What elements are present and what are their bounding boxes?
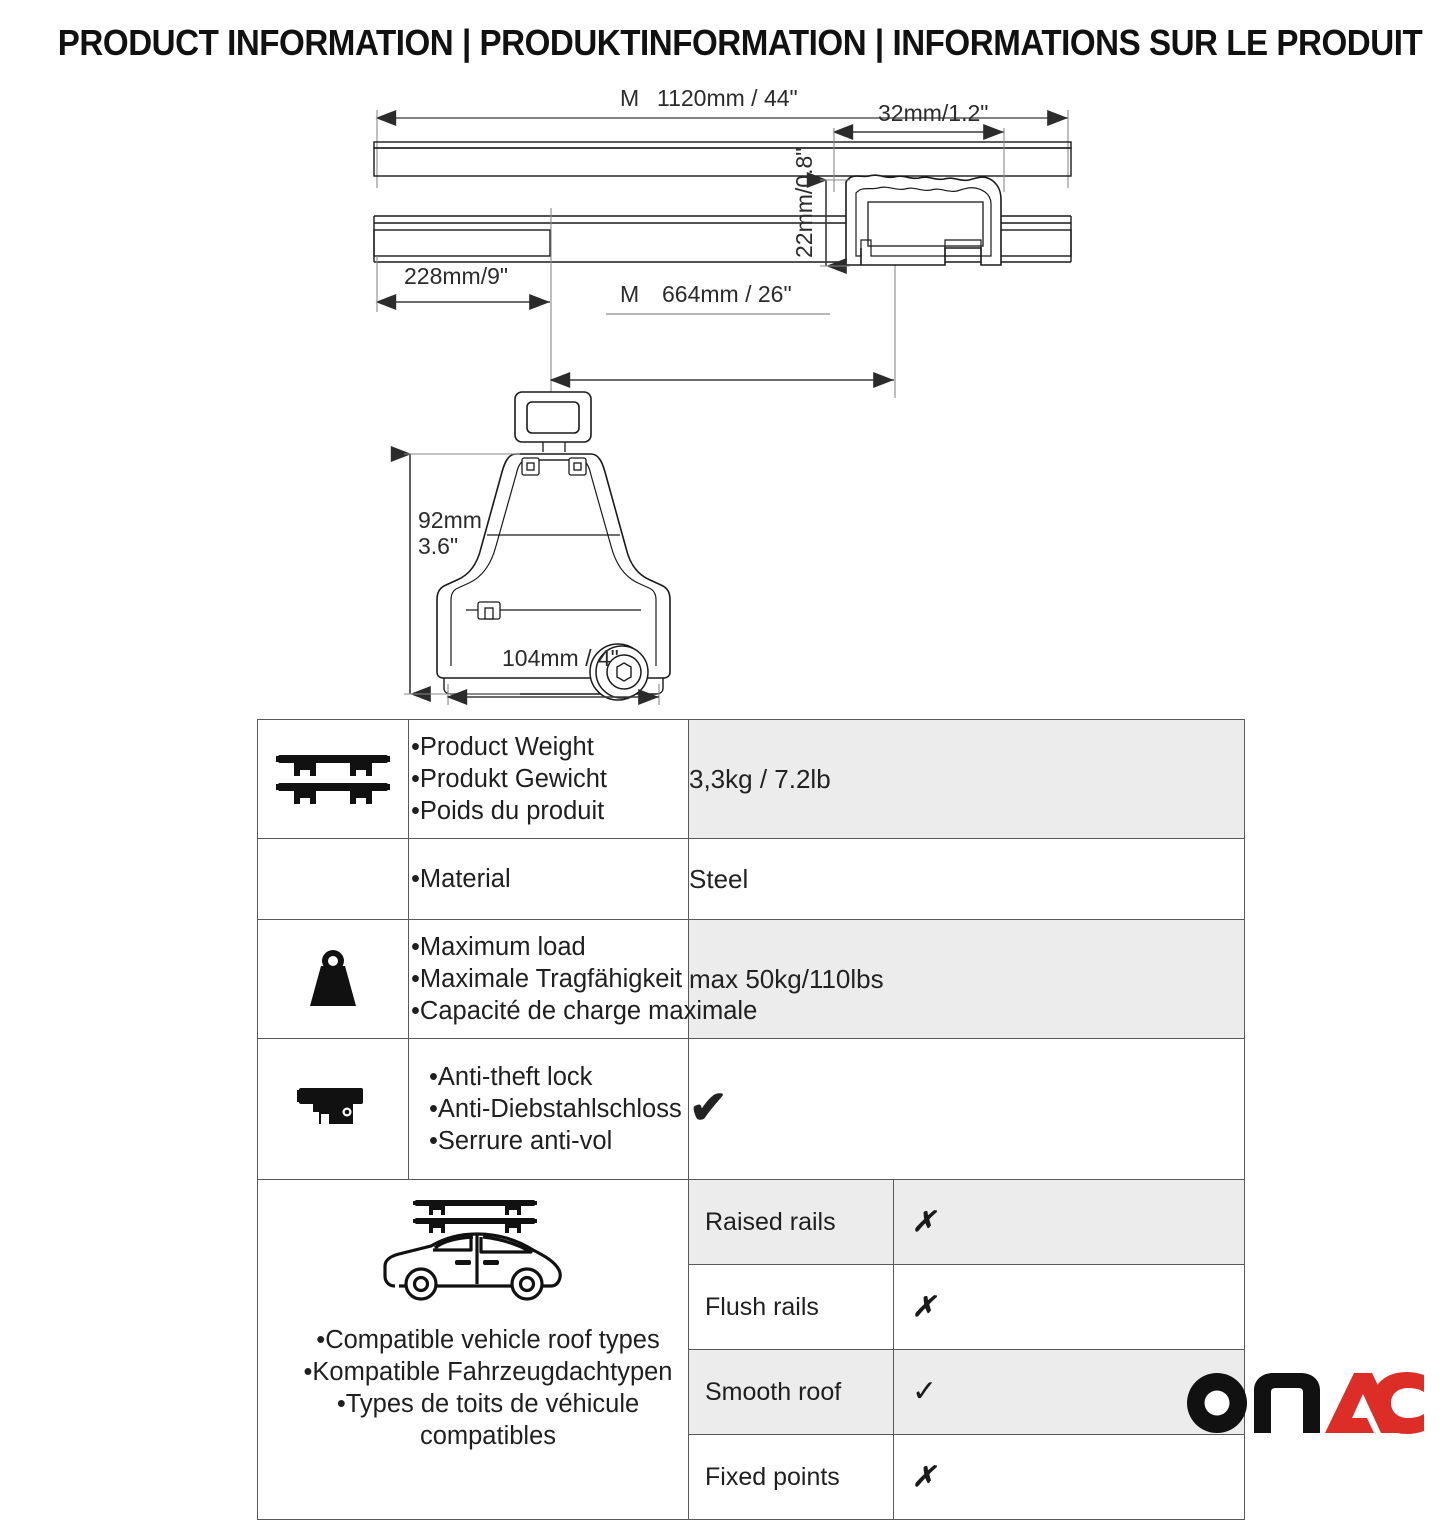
roof-type-name: Raised rails (689, 1180, 894, 1265)
roof-type-mark-cell: ✗ (894, 1435, 1245, 1520)
row-label-cell: •Maximum load •Maximale Tragfähigkeit •C… (409, 920, 689, 1039)
cross-icon: ✗ (912, 1293, 935, 1321)
roof-type-mark-cell: ✗ (894, 1180, 1245, 1265)
omac-logo (1186, 1372, 1424, 1434)
table-row: •Product Weight •Produkt Gewicht •Poids … (258, 720, 1245, 839)
bullet-list: •Product Weight •Produkt Gewicht •Poids … (409, 731, 688, 827)
check-icon: ✓ (912, 1377, 937, 1407)
profile-height-label: 22mm/0.8" (791, 148, 817, 258)
roof-type-row: Flush rails ✗ (689, 1265, 1244, 1350)
roof-type-row: Raised rails ✗ (689, 1180, 1244, 1265)
bar-length-value: 1120mm / 44" (657, 85, 798, 111)
bullet-list: •Maximum load •Maximale Tragfähigkeit •C… (409, 931, 688, 1027)
bullet-line: •Maximum load (409, 931, 688, 963)
table-row: •Maximum load •Maximale Tragfähigkeit •C… (258, 920, 1245, 1039)
page-title: PRODUCT INFORMATION | PRODUKTINFORMATION… (58, 22, 1387, 64)
bullet-line: •Anti-Diebstahlschloss (427, 1093, 688, 1125)
foot-width-text: 104mm / 4" (502, 645, 619, 671)
two-crossbars-icon (258, 720, 409, 839)
car-with-rack-icon (373, 1194, 573, 1306)
bullet-list: •Compatible vehicle roof types •Kompatib… (266, 1324, 680, 1453)
bullet-line: •Kompatible Fahrzeugdachtypen (294, 1356, 680, 1388)
bullet-line: •Product Weight (409, 731, 688, 763)
spread-prefix: M (620, 281, 639, 307)
roof-type-name: Smooth roof (689, 1350, 894, 1435)
anti-theft-lock-value: ✔ (689, 1039, 1245, 1180)
row-label-cell: •Product Weight •Produkt Gewicht •Poids … (409, 720, 689, 839)
weight-icon (258, 920, 409, 1039)
cross-icon: ✗ (912, 1208, 935, 1236)
profile-width-label: 32mm/1.2" (878, 100, 988, 126)
row-label-cell: •Material (409, 839, 689, 920)
roof-types-table: Raised rails ✗ Flush rails ✗ (689, 1180, 1244, 1519)
bullet-list: •Anti-theft lock •Anti-Diebstahlschloss … (409, 1061, 688, 1157)
product-information-sheet: PRODUCT INFORMATION | PRODUKTINFORMATION… (0, 0, 1445, 1445)
lock-bar-icon (258, 1039, 409, 1180)
bullet-line: •Maximale Tragfähigkeit (409, 963, 688, 995)
foot-height-line2: 3.6" (418, 533, 458, 559)
roof-type-name: Fixed points (689, 1435, 894, 1520)
specification-table: •Product Weight •Produkt Gewicht •Poids … (257, 719, 1245, 1520)
bullet-list: •Material (409, 863, 688, 895)
spread-value: 664mm / 26" (662, 281, 792, 307)
bullet-line: •Material (409, 863, 688, 895)
maximum-load-value: max 50kg/110lbs (689, 920, 1245, 1039)
table-row: •Anti-theft lock •Anti-Diebstahlschloss … (258, 1039, 1245, 1180)
row-label-cell: •Anti-theft lock •Anti-Diebstahlschloss … (409, 1039, 689, 1180)
roof-type-row: Fixed points ✗ (689, 1435, 1244, 1520)
bullet-line: •Anti-theft lock (427, 1061, 688, 1093)
logo-letter-o (1187, 1373, 1247, 1433)
bullet-line: •Capacité de charge maximale (409, 995, 688, 1027)
bar-length-prefix: M (620, 85, 639, 111)
logo-letter-m (1254, 1373, 1320, 1433)
bullet-line: •Poids du produit (409, 795, 688, 827)
bullet-line: •Produkt Gewicht (409, 763, 688, 795)
bullet-line: compatibles (294, 1420, 680, 1452)
cross-icon: ✗ (912, 1463, 935, 1491)
material-icon-placeholder (258, 839, 409, 920)
bullet-line: •Types de toits de véhicule (294, 1388, 680, 1420)
roof-type-mark-cell: ✗ (894, 1265, 1245, 1350)
roof-types-label-cell: •Compatible vehicle roof types •Kompatib… (258, 1180, 689, 1520)
foot-height-line1: 92mm (418, 507, 482, 533)
end-offset-value: 228mm/9" (404, 263, 508, 289)
roof-type-name: Flush rails (689, 1265, 894, 1350)
material-value: Steel (689, 839, 1245, 920)
table-row: •Compatible vehicle roof types •Kompatib… (258, 1180, 1245, 1520)
roof-type-row: Smooth roof ✓ (689, 1350, 1244, 1435)
product-weight-value: 3,3kg / 7.2lb (689, 720, 1245, 839)
bullet-line: •Compatible vehicle roof types (294, 1324, 680, 1356)
roof-types-table-cell: Raised rails ✗ Flush rails ✗ (689, 1180, 1245, 1520)
bullet-line: •Serrure anti-vol (427, 1125, 688, 1157)
technical-drawing: M 1120mm / 44" 228mm/9" (0, 80, 1445, 705)
table-row: •Material Steel (258, 839, 1245, 920)
check-icon: ✔ (689, 1089, 728, 1126)
